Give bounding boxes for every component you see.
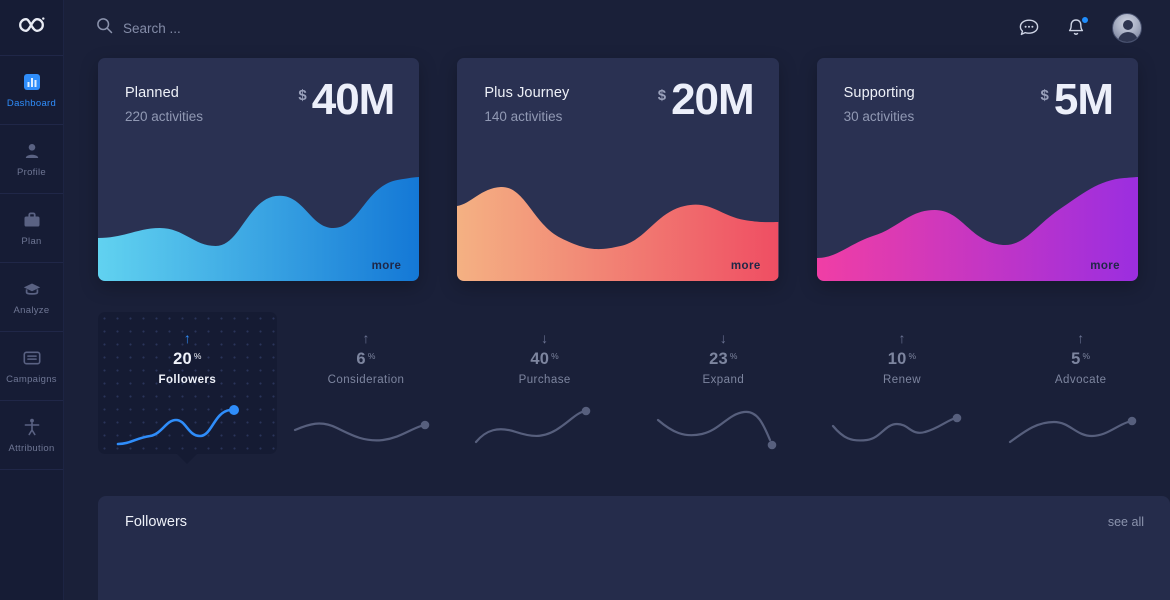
trend-arrow-icon: ↑ bbox=[1077, 331, 1084, 346]
summary-card-supporting[interactable]: Supporting 30 activities $ 5M more bbox=[817, 58, 1138, 281]
sidebar-item-analyze[interactable]: Analyze bbox=[0, 263, 63, 332]
sidebar-item-label: Plan bbox=[21, 237, 41, 247]
graduation-icon bbox=[22, 279, 42, 299]
summary-card-planned[interactable]: Planned 220 activities $ 40M more bbox=[98, 58, 419, 281]
sidebar-item-label: Dashboard bbox=[7, 99, 56, 109]
app-logo[interactable] bbox=[0, 0, 63, 56]
metric-expand[interactable]: ↓ 23 % Expand bbox=[634, 312, 813, 454]
bar-chart-icon bbox=[22, 72, 42, 92]
avatar[interactable] bbox=[1112, 13, 1142, 43]
summary-cards: Planned 220 activities $ 40M more bbox=[64, 56, 1170, 281]
ring-charts bbox=[98, 544, 1170, 600]
monitor-icon bbox=[22, 348, 42, 368]
metric-value: 6 % bbox=[356, 351, 375, 368]
body-icon bbox=[22, 417, 42, 437]
sidebar-item-dashboard[interactable]: Dashboard bbox=[0, 56, 63, 125]
metric-label: Followers bbox=[158, 374, 216, 386]
metric-value: 23 % bbox=[709, 351, 738, 368]
card-amount: $ 40M bbox=[298, 79, 394, 121]
metric-sparkline bbox=[648, 398, 798, 454]
card-value: 40M bbox=[312, 79, 395, 121]
metric-label: Expand bbox=[702, 374, 744, 386]
metric-followers[interactable]: ↑ 20 % Followers bbox=[98, 312, 277, 454]
topbar-actions bbox=[1018, 13, 1142, 43]
dashboard-app: Dashboard Profile Plan bbox=[0, 0, 1170, 600]
card-value: 5M bbox=[1054, 79, 1113, 121]
panel-header: Followers see all bbox=[98, 496, 1170, 530]
sidebar-item-label: Profile bbox=[17, 168, 46, 178]
sidebar-item-profile[interactable]: Profile bbox=[0, 125, 63, 194]
metric-sparkline bbox=[112, 398, 262, 454]
metric-unit: % bbox=[368, 352, 376, 361]
sidebar-item-attribution[interactable]: Attribution bbox=[0, 401, 63, 470]
search-icon bbox=[96, 17, 113, 39]
card-amount: $ 20M bbox=[658, 79, 754, 121]
metric-number: 10 bbox=[888, 351, 907, 368]
metric-number: 23 bbox=[709, 351, 728, 368]
metric-sparkline bbox=[470, 398, 620, 454]
sidebar-item-plan[interactable]: Plan bbox=[0, 194, 63, 263]
card-title: Planned bbox=[125, 85, 179, 101]
card-more-link[interactable]: more bbox=[731, 260, 761, 272]
metric-label: Renew bbox=[883, 374, 921, 386]
card-title: Supporting bbox=[844, 85, 915, 101]
trend-arrow-icon: ↓ bbox=[720, 331, 727, 346]
metric-label: Advocate bbox=[1055, 374, 1107, 386]
messages-icon[interactable] bbox=[1018, 17, 1040, 39]
notification-badge bbox=[1081, 16, 1089, 24]
card-subtitle: 30 activities bbox=[844, 109, 915, 124]
funnel-metrics: ↑ 20 % Followers ↑ 6 % Consideration bbox=[98, 281, 1170, 454]
metric-number: 20 bbox=[173, 351, 192, 368]
metric-purchase[interactable]: ↓ 40 % Purchase bbox=[455, 312, 634, 454]
currency-symbol: $ bbox=[298, 79, 306, 103]
metric-advocate[interactable]: ↑ 5 % Advocate bbox=[991, 312, 1170, 454]
trend-arrow-icon: ↓ bbox=[541, 331, 548, 346]
card-value: 20M bbox=[671, 79, 754, 121]
sidebar-item-label: Analyze bbox=[14, 306, 50, 316]
metric-renew[interactable]: ↑ 10 % Renew bbox=[813, 312, 992, 454]
card-more-link[interactable]: more bbox=[1090, 260, 1120, 272]
metric-value: 20 % bbox=[173, 351, 202, 368]
sidebar: Dashboard Profile Plan bbox=[0, 0, 64, 600]
metric-value: 10 % bbox=[888, 351, 917, 368]
metric-label: Purchase bbox=[519, 374, 571, 386]
metric-label: Consideration bbox=[328, 374, 405, 386]
metric-number: 40 bbox=[530, 351, 549, 368]
trend-arrow-icon: ↑ bbox=[184, 331, 191, 346]
person-icon bbox=[22, 141, 42, 161]
sidebar-item-campaigns[interactable]: Campaigns bbox=[0, 332, 63, 401]
metric-unit: % bbox=[730, 352, 738, 361]
card-title: Plus Journey bbox=[484, 85, 569, 101]
metric-unit: % bbox=[909, 352, 917, 361]
metric-unit: % bbox=[551, 352, 559, 361]
trend-arrow-icon: ↑ bbox=[899, 331, 906, 346]
card-subtitle: 140 activities bbox=[484, 109, 562, 124]
see-all-link[interactable]: see all bbox=[1108, 515, 1144, 529]
metric-value: 5 % bbox=[1071, 351, 1090, 368]
panel-title: Followers bbox=[125, 514, 187, 530]
briefcase-icon bbox=[22, 210, 42, 230]
metric-unit: % bbox=[1083, 352, 1091, 361]
metric-sparkline bbox=[291, 398, 441, 454]
metric-sparkline bbox=[1006, 398, 1156, 454]
metric-consideration[interactable]: ↑ 6 % Consideration bbox=[277, 312, 456, 454]
metric-number: 5 bbox=[1071, 351, 1080, 368]
bell-icon[interactable] bbox=[1065, 17, 1087, 39]
currency-symbol: $ bbox=[658, 79, 666, 103]
metric-sparkline bbox=[827, 398, 977, 454]
followers-panel: Followers see all bbox=[98, 496, 1170, 600]
metric-value: 40 % bbox=[530, 351, 559, 368]
sidebar-item-label: Attribution bbox=[8, 444, 54, 454]
trend-arrow-icon: ↑ bbox=[363, 331, 370, 346]
card-more-link[interactable]: more bbox=[372, 260, 402, 272]
metric-number: 6 bbox=[356, 351, 365, 368]
card-subtitle: 220 activities bbox=[125, 109, 203, 124]
main-content: Planned 220 activities $ 40M more bbox=[64, 0, 1170, 600]
summary-card-plus-journey[interactable]: Plus Journey 140 activities $ 20M more bbox=[457, 58, 778, 281]
search-input[interactable] bbox=[123, 21, 423, 36]
search-bar[interactable] bbox=[96, 17, 1018, 39]
topbar bbox=[64, 0, 1170, 56]
card-amount: $ 5M bbox=[1041, 79, 1113, 121]
infinity-logo-icon bbox=[17, 16, 47, 39]
sidebar-item-label: Campaigns bbox=[6, 375, 57, 385]
currency-symbol: $ bbox=[1041, 79, 1049, 103]
metric-unit: % bbox=[194, 352, 202, 361]
